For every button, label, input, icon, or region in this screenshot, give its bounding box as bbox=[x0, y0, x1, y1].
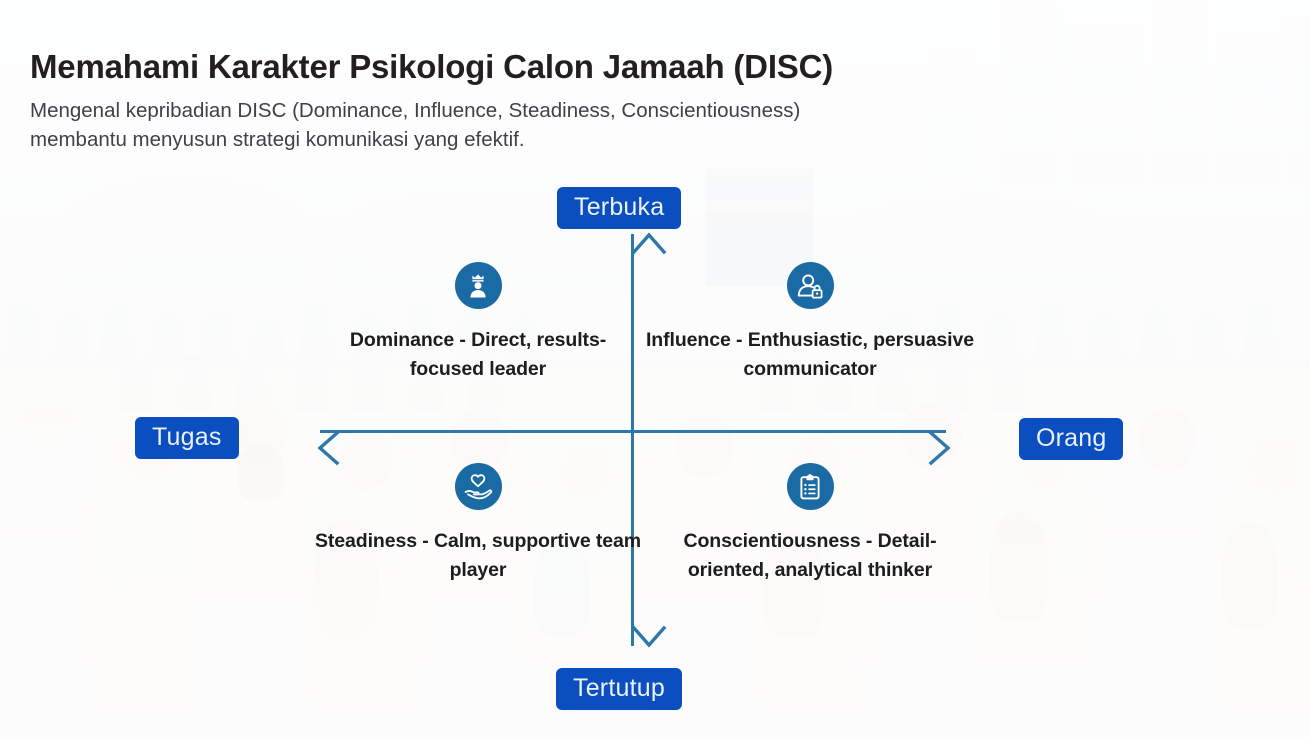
horizontal-axis-line bbox=[320, 430, 946, 433]
quadrant-influence: Influence - Enthusiastic, persuasive com… bbox=[645, 262, 975, 385]
axis-label-top: Terbuka bbox=[557, 187, 681, 229]
crowned-person-icon bbox=[455, 262, 502, 309]
heart-in-hand-icon bbox=[455, 463, 502, 510]
quadrant-dominance: Dominance - Direct, results-focused lead… bbox=[313, 262, 643, 385]
quadrant-label: Conscientiousness - Detail-oriented, ana… bbox=[645, 527, 975, 586]
page-subtitle: Mengenal kepribadian DISC (Dominance, In… bbox=[30, 96, 820, 154]
quadrant-label: Steadiness - Calm, supportive team playe… bbox=[313, 527, 643, 586]
clipboard-checklist-icon bbox=[787, 463, 834, 510]
quadrant-label: Influence - Enthusiastic, persuasive com… bbox=[645, 326, 975, 385]
quadrant-steadiness: Steadiness - Calm, supportive team playe… bbox=[313, 463, 643, 586]
header: Memahami Karakter Psikologi Calon Jamaah… bbox=[30, 48, 1030, 154]
quadrant-conscientiousness: Conscientiousness - Detail-oriented, ana… bbox=[645, 463, 975, 586]
axis-label-left: Tugas bbox=[135, 417, 239, 459]
quadrant-label: Dominance - Direct, results-focused lead… bbox=[313, 326, 643, 385]
person-lock-icon bbox=[787, 262, 834, 309]
axis-label-bottom: Tertutup bbox=[556, 668, 682, 710]
page-title: Memahami Karakter Psikologi Calon Jamaah… bbox=[30, 48, 1030, 87]
axis-label-right: Orang bbox=[1019, 418, 1123, 460]
